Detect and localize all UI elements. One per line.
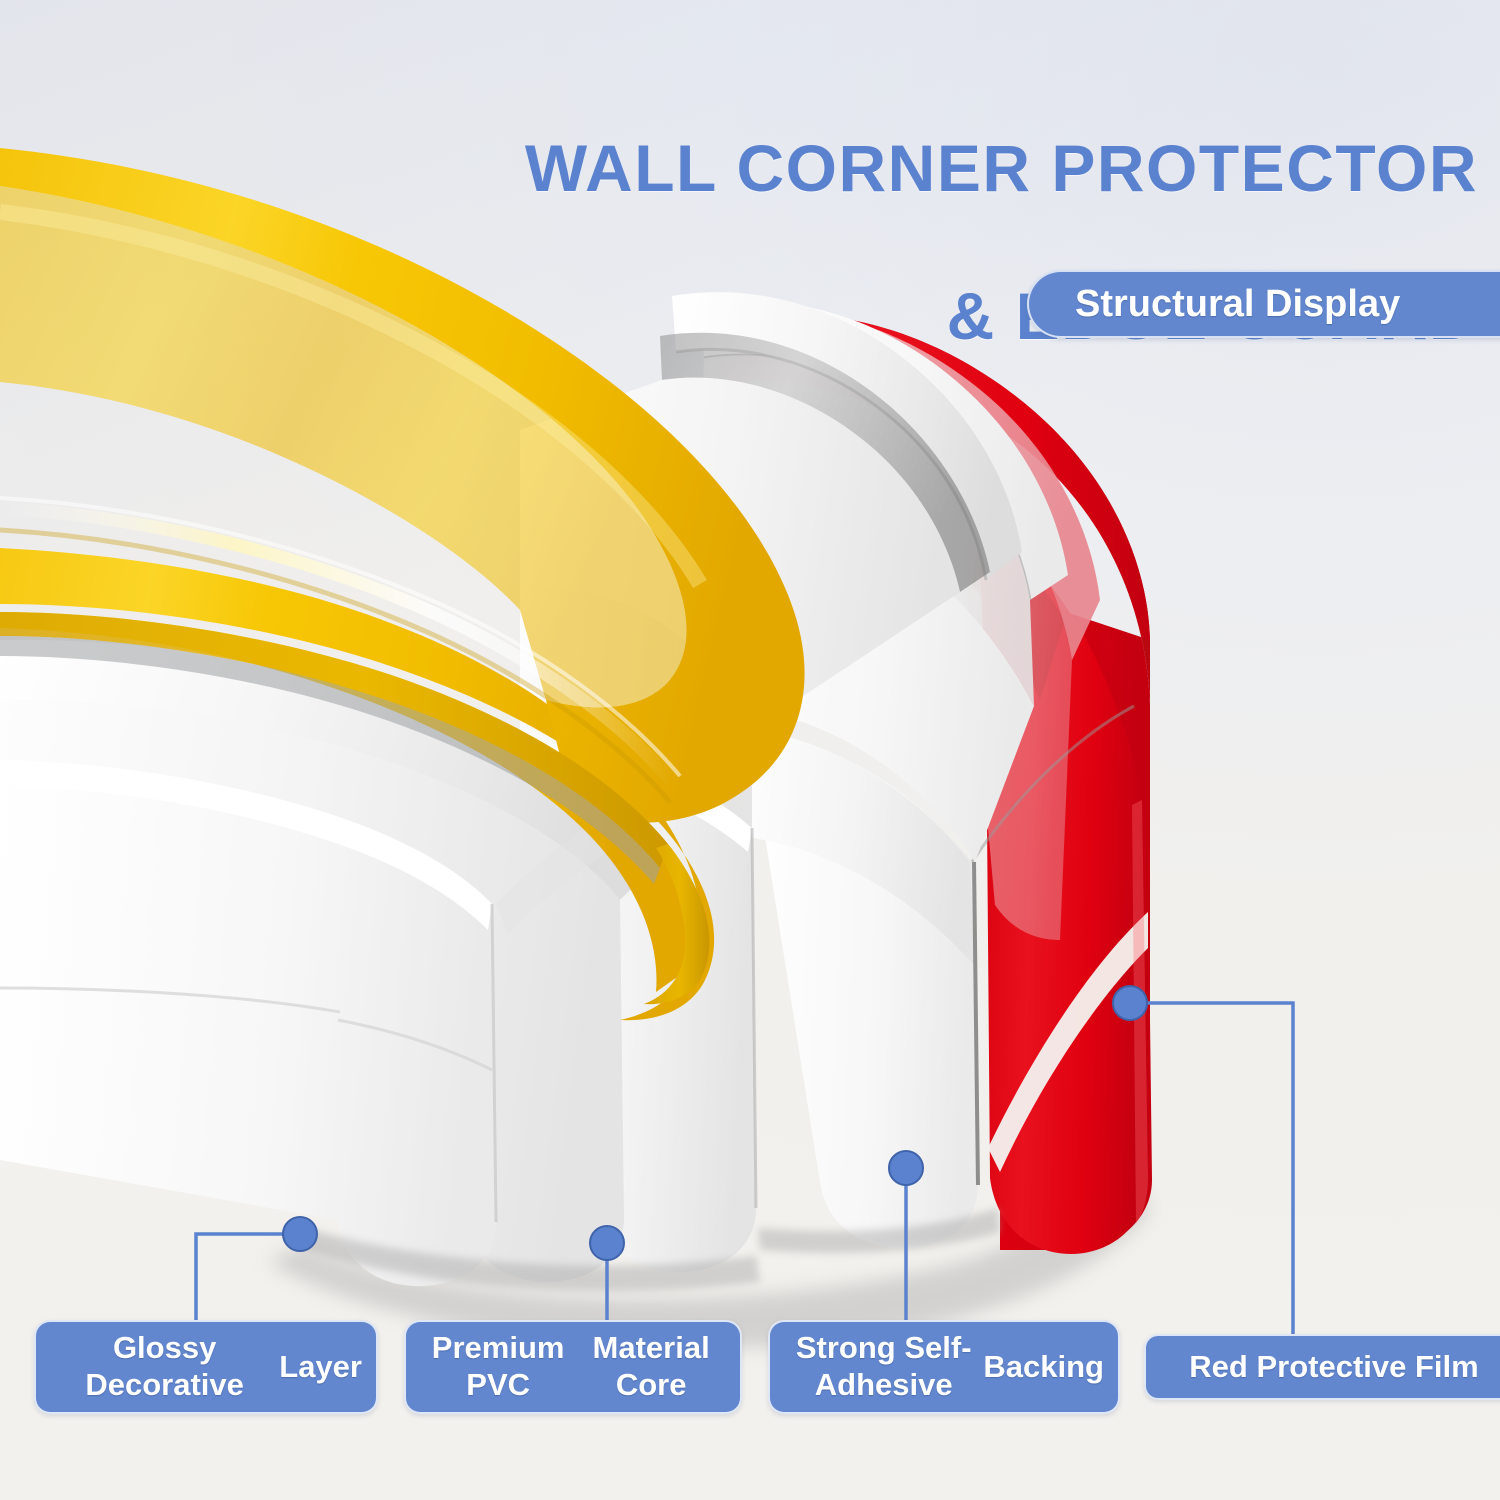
callout-line-4 xyxy=(1130,1003,1293,1334)
callout-label-red-protective-film: Red Protective Film xyxy=(1144,1334,1500,1400)
product-illustration xyxy=(0,0,1500,1500)
callout-label-premium-pvc-material-core: Premium PVCMaterial Core xyxy=(404,1320,742,1414)
callout-dot-2 xyxy=(590,1226,624,1260)
infographic-canvas: WALL CORNER PROTECTOR & EDGE GUARD Struc… xyxy=(0,0,1500,1500)
callout-label-glossy-decorative-layer: Glossy DecorativeLayer xyxy=(34,1320,378,1414)
callout-dot-3 xyxy=(889,1151,923,1185)
callout-dot-1 xyxy=(283,1217,317,1251)
callout-label-strong-self-adhesive-backing: Strong Self-AdhesiveBacking xyxy=(768,1320,1120,1414)
callout-line-1 xyxy=(196,1234,300,1320)
callout-dot-4 xyxy=(1113,986,1147,1020)
structural-display-badge: Structural Display xyxy=(1027,270,1500,338)
